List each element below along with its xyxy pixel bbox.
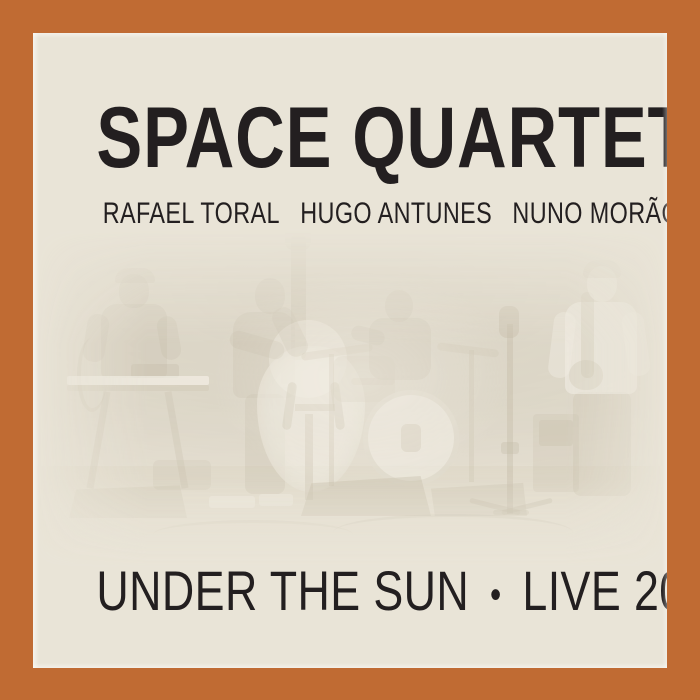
cover-typography: SPACE QUARTET RAFAEL TORALHUGO ANTUNESNU… [33, 33, 667, 668]
album-subtitle-edition: LIVE 2019 [522, 559, 667, 622]
album-title: SPACE QUARTET [96, 95, 603, 181]
album-subtitle-separator-icon: • [490, 575, 502, 615]
album-cover: SPACE QUARTET RAFAEL TORALHUGO ANTUNESNU… [0, 0, 700, 700]
cover-inner-panel: SPACE QUARTET RAFAEL TORALHUGO ANTUNESNU… [33, 33, 667, 668]
member-name-2: HUGO ANTUNES [300, 197, 492, 230]
member-name-3: NUNO MORÃO [512, 197, 667, 230]
member-name-1: RAFAEL TORAL [103, 197, 280, 230]
album-subtitle-name: UNDER THE SUN [96, 559, 469, 622]
album-subtitle: UNDER THE SUN•LIVE 2019 [96, 563, 603, 619]
band-members-line: RAFAEL TORALHUGO ANTUNESNUNO MORÃONUNO T… [103, 199, 598, 229]
